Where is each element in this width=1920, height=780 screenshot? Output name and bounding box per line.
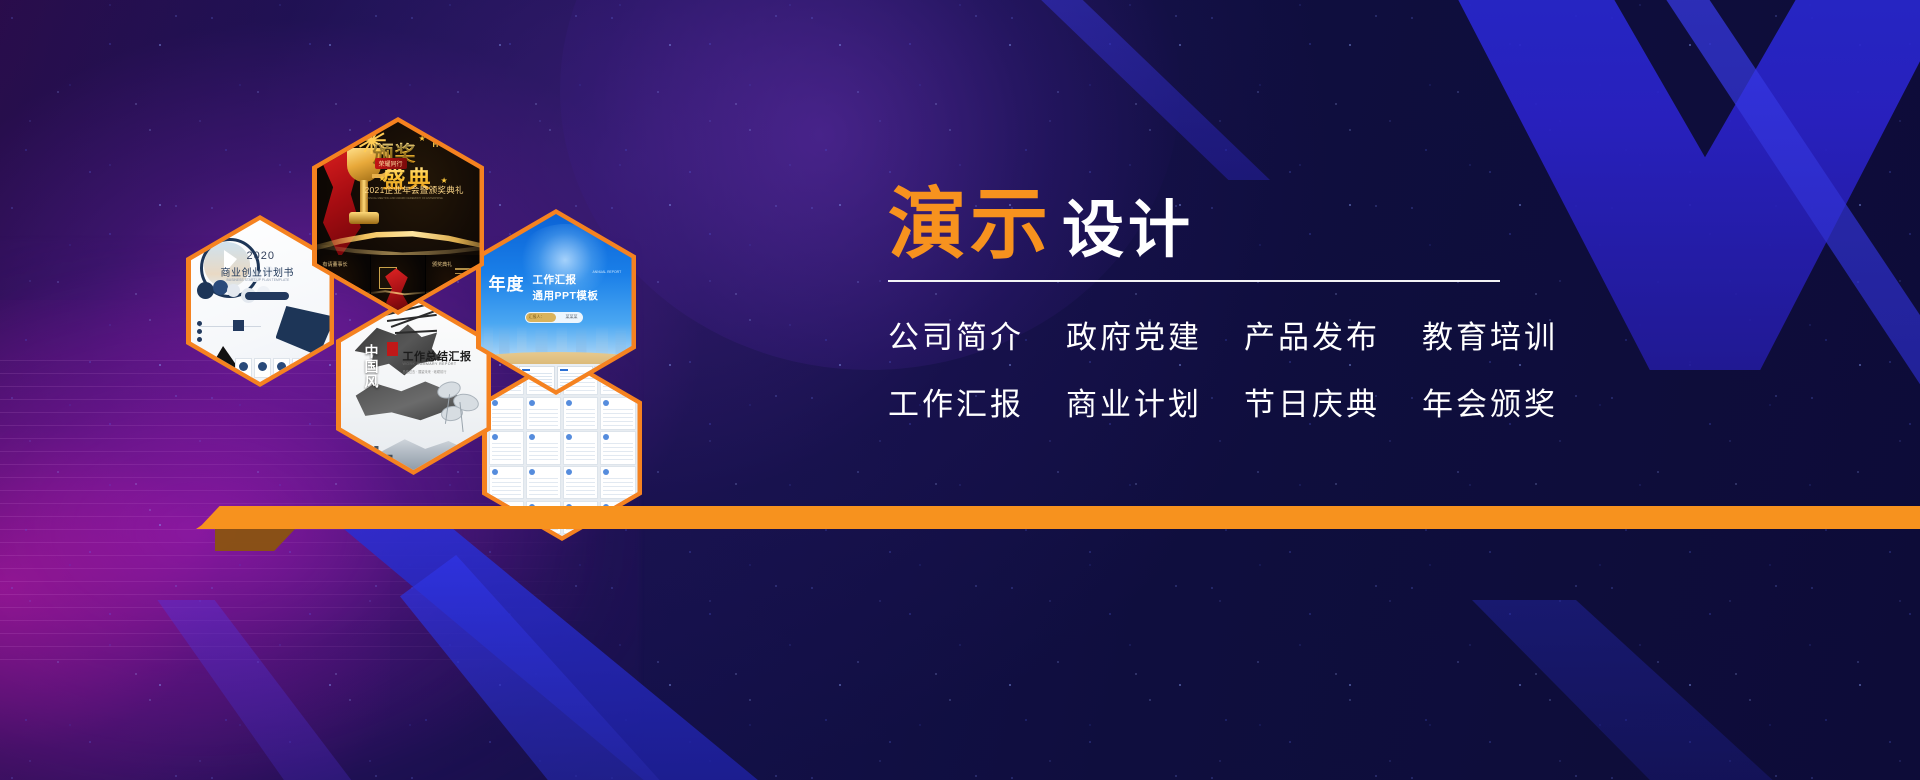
thumb-prefix: 年度 — [489, 270, 525, 295]
star-icon: ★ — [379, 174, 386, 183]
sub-slide: 再创佳绩 · 勇攀高峰 — [371, 255, 424, 310]
mini-cards — [235, 358, 309, 378]
thumb-title-line1: 工作汇报 — [533, 272, 577, 287]
star-icon: ★ — [419, 134, 426, 143]
tag-company-profile[interactable]: 公司简介 — [888, 312, 1024, 357]
hex-thumbnail-china-style[interactable]: 中国风 工作总结汇报 WORK SUMMARY REPORT 总结过去 · 展望… — [336, 295, 491, 475]
thumb-button — [245, 292, 289, 300]
thumb-subtitle-en: WORK SUMMARY REPORT — [403, 362, 457, 366]
tag-festival-celebration[interactable]: 节日庆典 — [1244, 379, 1380, 424]
sub-slide-text: 有请董事长 — [323, 261, 348, 268]
hex-thumbnail-annual-report[interactable]: 年度 工作汇报 通用PPT模板 ANNUAL REPORT 汇报人： 某某某 — [476, 209, 636, 395]
bullet-lines — [455, 265, 475, 286]
tag-product-launch[interactable]: 产品发布 — [1244, 312, 1380, 357]
hex-thumbnail-award-ceremony[interactable]: 颁奖 盛典 HONOR 荣耀同行 ★ ★ ★ 2021企业年会暨颁奖典礼 ANN… — [312, 117, 484, 315]
tag-row-2: 工作汇报 商业计划 节日庆典 年会颁奖 — [888, 379, 1508, 424]
headline-block: 演示 设计 公司简介 政府党建 产品发布 教育培训 工作汇报 商业计划 节日庆典… — [888, 186, 1508, 424]
red-ribbon-figure — [385, 268, 410, 310]
thumb-presenter-label: 汇报人： — [529, 314, 545, 320]
thumb-english: ANNUAL REPORT — [593, 270, 622, 274]
thumb-title: 商业创业计划书 — [221, 264, 295, 279]
square-accent — [233, 320, 244, 331]
thumb-english: HONOR — [433, 140, 468, 149]
sub-slide-text: 颁奖典礼 — [432, 261, 452, 268]
thumb-subtitle: BUSINESS START-UP PLAN TEMPLATE — [227, 278, 290, 282]
banner-canvas: 2020 商业创业计划书 BUSINESS START-UP PLAN TEMP… — [0, 0, 1920, 780]
tag-work-report[interactable]: 工作汇报 — [888, 379, 1024, 424]
deco-dot — [197, 282, 214, 299]
tag-government-party[interactable]: 政府党建 — [1066, 312, 1202, 357]
title-divider — [888, 280, 1500, 282]
thumb-badge: 荣耀同行 — [375, 158, 407, 169]
tag-row-1: 公司简介 政府党建 产品发布 教育培训 — [888, 312, 1508, 357]
sub-slide: 颁奖典礼 — [426, 255, 479, 310]
title-primary: 演示 — [888, 186, 1052, 264]
deco-dot — [213, 280, 228, 295]
thumb-subtitle-small: ANNUAL MEETING AND AWARD CEREMONY OF ENT… — [367, 197, 443, 200]
thumb-year: 2020 — [247, 250, 275, 262]
sub-slides-row: 有请董事长 共创辉煌 · 同心同行 再创佳绩 · 勇攀高峰 颁奖典礼 — [317, 255, 480, 310]
red-seal — [387, 342, 398, 356]
page-title: 演示 设计 — [888, 186, 1508, 264]
thumb-vertical-text: 中国风 — [365, 344, 379, 389]
tag-education-training[interactable]: 教育培训 — [1422, 312, 1558, 357]
thumb-subtitle: 2021企业年会暨颁奖典礼 — [365, 184, 464, 196]
mountain-silhouette — [341, 426, 487, 470]
thumb-presenter-value: 某某某 — [566, 314, 578, 320]
thumb-presenter-button: 汇报人： 某某某 — [525, 312, 583, 323]
navy-shape — [276, 306, 330, 356]
thumb-subtitle-cn: 总结过去 · 展望未来 · 砥砺前行 — [403, 369, 447, 374]
hexagon-thumbnail-cluster: 2020 商业创业计划书 BUSINESS START-UP PLAN TEMP… — [186, 105, 656, 485]
deco-dot — [195, 230, 211, 246]
hex-thumbnail-business-plan[interactable]: 2020 商业创业计划书 BUSINESS START-UP PLAN TEMP… — [186, 215, 334, 387]
tag-annual-award[interactable]: 年会颁奖 — [1422, 379, 1558, 424]
orange-accent-bar — [228, 506, 1920, 529]
bullet-dots — [197, 318, 217, 342]
thumb-title-line2: 通用PPT模板 — [533, 288, 599, 303]
deco-dot — [227, 284, 240, 297]
tag-business-plan[interactable]: 商业计划 — [1066, 379, 1202, 424]
lotus-decoration — [435, 376, 481, 430]
title-secondary: 设计 — [1062, 199, 1194, 261]
